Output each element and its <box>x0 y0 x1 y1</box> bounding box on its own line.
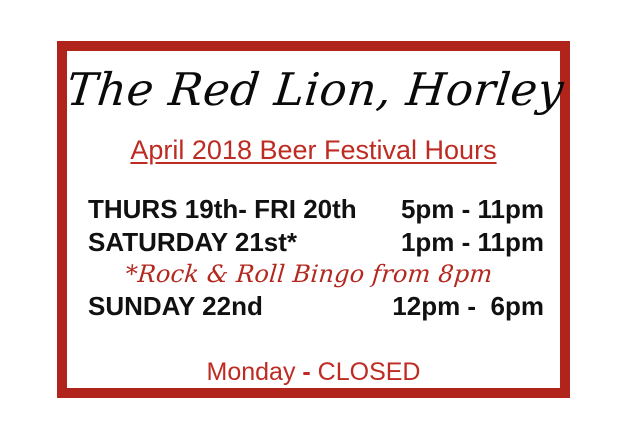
closed-notice-day: Monday <box>207 358 303 386</box>
subtitle: April 2018 Beer Festival Hours <box>130 134 496 166</box>
schedule-day: SATURDAY 21st* <box>88 226 297 259</box>
schedule-time: 12pm - 6pm <box>392 290 544 323</box>
subtitle-container: April 2018 Beer Festival Hours <box>67 134 560 166</box>
schedule-list: THURS 19th- FRI 20th 5pm - 11pm SATURDAY… <box>88 193 544 323</box>
poster-inner: The Red Lion, Horley April 2018 Beer Fes… <box>67 51 560 388</box>
schedule-row: SATURDAY 21st* 1pm - 11pm <box>88 226 544 259</box>
schedule-row: SUNDAY 22nd 12pm - 6pm <box>88 290 544 323</box>
poster-frame: The Red Lion, Horley April 2018 Beer Fes… <box>57 41 570 398</box>
page-title: The Red Lion, Horley <box>64 63 563 117</box>
schedule-time: 1pm - 11pm <box>401 226 544 259</box>
closed-notice-separator: - <box>302 358 310 386</box>
schedule-day: THURS 19th- FRI 20th <box>88 193 357 226</box>
schedule-row: THURS 19th- FRI 20th 5pm - 11pm <box>88 193 544 226</box>
closed-notice-status: CLOSED <box>311 358 421 386</box>
schedule-time: 5pm - 11pm <box>401 193 544 226</box>
bingo-note: *Rock & Roll Bingo from 8pm <box>87 259 546 290</box>
schedule-day: SUNDAY 22nd <box>88 290 263 323</box>
closed-notice: Monday - CLOSED <box>67 357 560 387</box>
poster: The Red Lion, Horley April 2018 Beer Fes… <box>0 0 625 441</box>
